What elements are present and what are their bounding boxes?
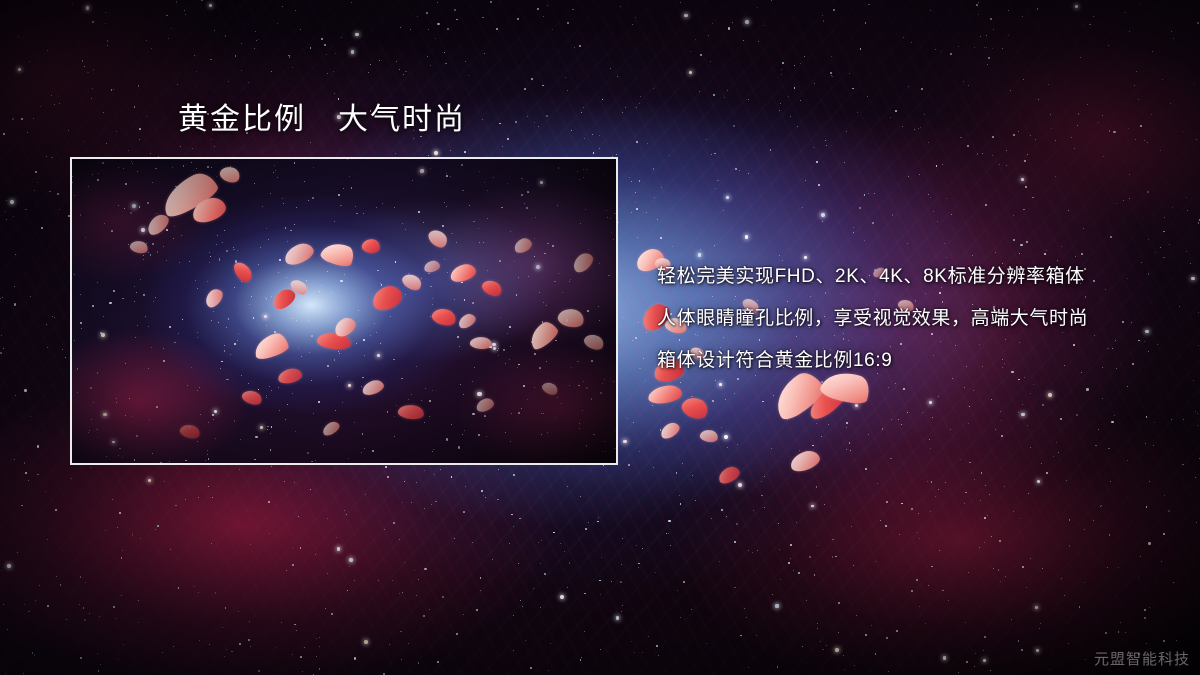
slide-canvas: 黄金比例 大气时尚 轻松完美实现FHD、2K、4K、8K标准分辨率箱体 人体眼睛… — [0, 0, 1200, 675]
body-copy-line-1: 轻松完美实现FHD、2K、4K、8K标准分辨率箱体 — [657, 256, 1177, 298]
framed-image-vignette — [72, 159, 616, 463]
framed-image[interactable] — [70, 157, 618, 465]
body-copy-line-2: 人体眼睛瞳孔比例，享受视觉效果，高端大气时尚 — [657, 298, 1177, 340]
body-copy-block: 轻松完美实现FHD、2K、4K、8K标准分辨率箱体 人体眼睛瞳孔比例，享受视觉效… — [657, 256, 1177, 382]
watermark: 元盟智能科技 — [1094, 648, 1190, 669]
body-copy-line-3: 箱体设计符合黄金比例16:9 — [657, 340, 1177, 382]
page-title: 黄金比例 大气时尚 — [178, 102, 466, 138]
